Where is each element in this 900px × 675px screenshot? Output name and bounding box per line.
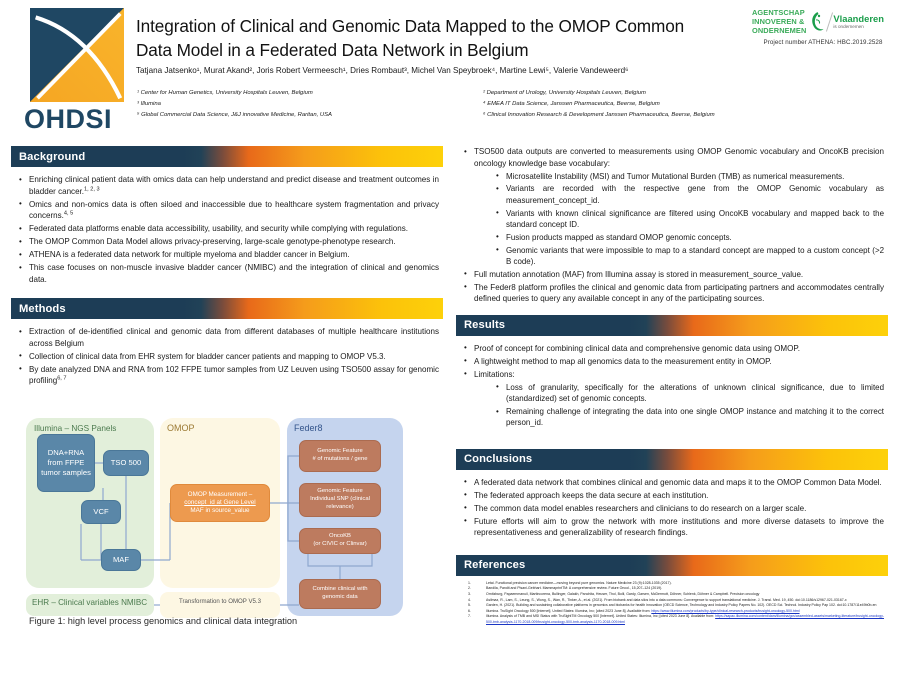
list-item: Collection of clinical data from EHR sys… xyxy=(15,351,439,363)
list-item: A federated data network that combines c… xyxy=(460,477,884,489)
node-omop-measurement: OMOP Measurement – concept_id at Gene Le… xyxy=(170,484,270,522)
reference-list: Letai. Functional precision cancer medic… xyxy=(460,581,884,625)
list-item: The OMOP Common Data Model allows privac… xyxy=(15,236,439,248)
affiliations-right: ² Department of Urology, University Hosp… xyxy=(483,88,715,121)
results-body: Proof of concept for combining clinical … xyxy=(456,336,888,429)
node-line: genomic data xyxy=(312,594,367,602)
project-number: Project number ATHENA: HBC.2019.2528 xyxy=(752,39,894,46)
list-item: Bandila, Pandit and Pisani-Gebhart. Mamm… xyxy=(460,586,884,591)
node-combine-clinical-genomic: Combine clinical with genomic data xyxy=(299,579,381,609)
list-item: Federated data platforms enable data acc… xyxy=(15,223,439,235)
list-item: The common data model enables researcher… xyxy=(460,503,884,515)
list-item: ATHENA is a federated data network for m… xyxy=(15,249,439,261)
vlaio-logo-row: AGENTSCHAP INNOVEREN & ONDERNEMEN Vlaand… xyxy=(752,8,894,35)
affiliation-item: ³ Illumina xyxy=(137,99,332,110)
list-item: Variants are recorded with the respectiv… xyxy=(492,183,884,206)
section-title: Conclusions xyxy=(456,453,532,465)
agentschap-line-1: AGENTSCHAP xyxy=(752,8,806,17)
affiliation-item: ¹ Center for Human Genetics, University … xyxy=(137,88,332,99)
section-title: Results xyxy=(456,319,505,331)
methods-sub-list: Microsatellite Instability (MSI) and Tum… xyxy=(474,171,884,268)
panel-label-feder8: Feder8 xyxy=(294,423,323,433)
methods-body: Extraction of de-identified clinical and… xyxy=(11,319,443,387)
node-line: (or CIVIC or Clinvar) xyxy=(313,541,366,549)
vlaanderen-wordmark: Vlaanderen is ondernemen xyxy=(833,14,884,29)
background-body: Enriching clinical patient data with omi… xyxy=(11,167,443,285)
methods-continued-bullet-list: TSO500 data outputs are converted to mea… xyxy=(460,146,884,305)
methods-continued-body: TSO500 data outputs are converted to mea… xyxy=(456,146,888,305)
list-item: Genomic variants that were impossible to… xyxy=(492,245,884,268)
results-bullet-list: Proof of concept for combining clinical … xyxy=(460,343,884,429)
list-item: The Feder8 platform profiles the clinica… xyxy=(460,282,884,305)
section-header-conclusions: Conclusions xyxy=(456,449,888,470)
list-item: This case focuses on non-muscle invasive… xyxy=(15,262,439,285)
list-item: Omics and non-omics data is often siloed… xyxy=(15,199,439,222)
list-item: Extraction of de-identified clinical and… xyxy=(15,326,439,349)
list-item: Remaining challenge of integrating the d… xyxy=(492,406,884,429)
node-vcf: VCF xyxy=(81,500,121,524)
list-item: Illumina. TruSight Oncology 500 [Interne… xyxy=(460,609,884,614)
list-item: Fusion products mapped as standard OMOP … xyxy=(492,232,884,243)
poster-header: OHDSI Integration of Clinical and Genomi… xyxy=(0,0,900,138)
section-title: Background xyxy=(11,151,85,163)
agentschap-line-3: ONDERNEMEN xyxy=(752,26,806,35)
methods-bullet-list: Extraction of de-identified clinical and… xyxy=(15,326,439,387)
section-header-methods: Methods xyxy=(11,298,443,319)
logo-divider xyxy=(826,12,833,31)
list-item: Proof of concept for combining clinical … xyxy=(460,343,884,355)
node-line: OMOP Measurement – xyxy=(184,491,255,499)
node-line: Combine clinical with xyxy=(312,586,367,594)
ohdsi-logo-wordmark: OHDSI xyxy=(24,104,132,135)
figure-diagram: Illumina – NGS Panels OMOP Feder8 DNA+RN… xyxy=(12,416,444,616)
list-item: By date analyzed DNA and RNA from 102 FF… xyxy=(15,364,439,387)
results-sub-list: Loss of granularity, specifically for th… xyxy=(474,382,884,429)
list-item: Variants with known clinical significanc… xyxy=(492,208,884,231)
panel-label-illumina: Illumina – NGS Panels xyxy=(34,424,116,433)
list-item: Future efforts will aim to grow the netw… xyxy=(460,516,884,539)
affiliation-item: ² Department of Urology, University Hosp… xyxy=(483,88,715,99)
list-item: Asilmaz, R., Lam, S., Leung, S., Wong, S… xyxy=(460,598,884,603)
list-item: Loss of granularity, specifically for th… xyxy=(492,382,884,405)
node-dna-rna-ffpe: DNA+RNA from FFPE tumor samples xyxy=(37,434,95,492)
list-item: Ornitzburg, Papaemmanuil, Martincorena, … xyxy=(460,592,884,597)
node-line: concept_id at Gene Level xyxy=(184,499,255,507)
left-column: Background Enriching clinical patient da… xyxy=(11,146,443,388)
list-item: Limitations: Loss of granularity, specif… xyxy=(460,369,884,429)
affiliation-item: ⁴ EMEA IT Data Science, Janssen Pharmace… xyxy=(483,99,715,110)
affiliation-item: ⁶ Clinical Innovation Research & Develop… xyxy=(483,110,715,121)
node-line: MAF in source_value xyxy=(184,507,255,515)
node-genomic-feature-snp: Genomic Feature Individual SNP (clinical… xyxy=(299,483,381,517)
funder-logo-block: AGENTSCHAP INNOVEREN & ONDERNEMEN Vlaand… xyxy=(752,8,894,46)
affiliation-item: ⁵ Global Commercial Data Science, J&J in… xyxy=(137,110,332,121)
vlaanderen-lion-icon xyxy=(809,11,826,33)
poster-canvas: OHDSI Integration of Clinical and Genomi… xyxy=(0,0,900,675)
figure-caption: Figure 1: high level process genomics an… xyxy=(29,616,297,626)
section-title: Methods xyxy=(11,303,66,315)
ohdsi-logo-mark xyxy=(30,8,124,102)
node-line: Genomic Feature xyxy=(310,488,370,496)
section-header-results: Results xyxy=(456,315,888,336)
node-line: # of mutations / gene xyxy=(312,456,367,464)
panel-label-omop: OMOP xyxy=(167,423,195,433)
node-line: Individual SNP (clinical xyxy=(310,496,370,504)
list-item: Full mutation annotation (MAF) from Illu… xyxy=(460,269,884,281)
references-body: Letai. Functional precision cancer medic… xyxy=(456,576,888,625)
agentschap-wordmark: AGENTSCHAP INNOVEREN & ONDERNEMEN xyxy=(752,8,806,35)
vlaanderen-tagline: is ondernemen xyxy=(833,24,884,29)
concept-id-text: concept_id at Gene Level xyxy=(184,499,255,506)
list-item: Enriching clinical patient data with omi… xyxy=(15,174,439,197)
list-item: Garden, H. (2021). Building and sustaini… xyxy=(460,603,884,608)
author-list: Tatjana Jatsenko¹, Murat Akand², Joris R… xyxy=(136,66,756,77)
node-genomic-feature-mutations: Genomic Feature # of mutations / gene xyxy=(299,440,381,472)
node-maf: MAF xyxy=(101,549,141,571)
node-tso500: TSO 500 xyxy=(103,450,149,476)
list-item: Microsatellite Instability (MSI) and Tum… xyxy=(492,171,884,182)
node-oncokb: OncoKB (or CIVIC or Clinvar) xyxy=(299,528,381,554)
agentschap-line-2: INNOVEREN & xyxy=(752,17,806,26)
figure-1: Illumina – NGS Panels OMOP Feder8 DNA+RN… xyxy=(12,416,444,638)
node-line: Genomic Feature xyxy=(312,448,367,456)
node-line: relevance) xyxy=(310,504,370,512)
section-header-references: References xyxy=(456,555,888,576)
poster-title: Integration of Clinical and Genomic Data… xyxy=(136,14,706,63)
background-bullet-list: Enriching clinical patient data with omi… xyxy=(15,174,439,285)
node-transformation-omop: Transformation to OMOP V5.3 xyxy=(164,598,276,605)
list-item: TSO500 data outputs are converted to mea… xyxy=(460,146,884,267)
conclusions-body: A federated data network that combines c… xyxy=(456,470,888,539)
section-title: References xyxy=(456,559,525,571)
node-ehr-clinical-variables: EHR – Clinical variables NMIBC xyxy=(32,598,150,607)
section-header-background: Background xyxy=(11,146,443,167)
ohdsi-logo-svg xyxy=(30,8,124,102)
list-item: A lightweight method to map all genomics… xyxy=(460,356,884,368)
list-item: Illumina. Analysis of TMB and MSI Status… xyxy=(460,614,884,625)
node-line: OncoKB xyxy=(313,533,366,541)
vlaanderen-name: Vlaanderen xyxy=(833,14,884,24)
list-item: Letai. Functional precision cancer medic… xyxy=(460,581,884,586)
conclusions-bullet-list: A federated data network that combines c… xyxy=(460,477,884,539)
list-item: The federated approach keeps the data se… xyxy=(460,490,884,502)
ohdsi-logo: OHDSI xyxy=(14,8,132,130)
affiliations-left: ¹ Center for Human Genetics, University … xyxy=(137,88,332,121)
right-column: TSO500 data outputs are converted to mea… xyxy=(456,146,888,625)
